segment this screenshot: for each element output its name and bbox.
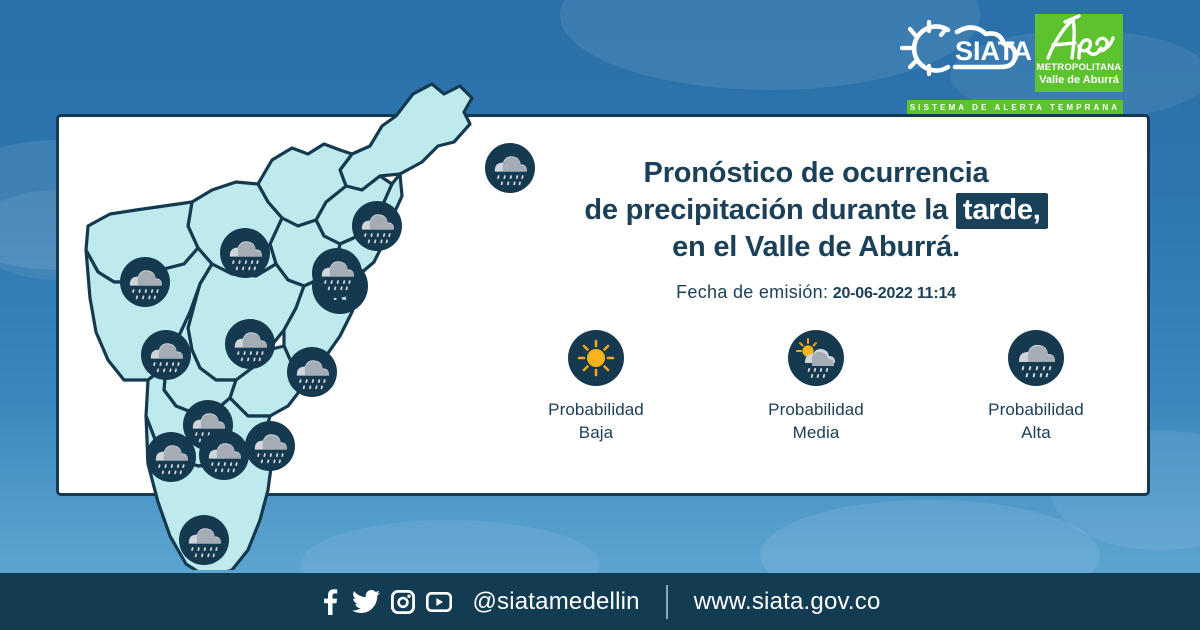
siata-wordmark: SIATA bbox=[955, 36, 1032, 66]
legend-item-low: Probabilidad Baja bbox=[506, 330, 686, 444]
title-line-2: de precipitación durante la tarde, bbox=[486, 192, 1146, 229]
page-title: Pronóstico de ocurrencia de precipitació… bbox=[486, 155, 1146, 266]
social-handle[interactable]: @siatamedellin bbox=[472, 588, 639, 616]
probability-legend: Probabilidad Baja bbox=[486, 330, 1146, 444]
rain-cloud-icon bbox=[1008, 330, 1064, 386]
title-line-1: Pronóstico de ocurrencia bbox=[486, 155, 1146, 192]
website-url[interactable]: www.siata.gov.co bbox=[694, 588, 881, 616]
sun-icon bbox=[568, 330, 624, 386]
legend-high-line2: Alta bbox=[946, 421, 1126, 444]
forecast-text-block: Pronóstico de ocurrencia de precipitació… bbox=[486, 155, 1146, 303]
tagline-banner: SISTEMA DE ALERTA TEMPRANA bbox=[907, 100, 1123, 115]
legend-label-high: Probabilidad Alta bbox=[946, 398, 1126, 444]
social-icons bbox=[319, 589, 452, 615]
instagram-icon[interactable] bbox=[391, 590, 415, 614]
youtube-icon[interactable] bbox=[426, 592, 452, 612]
area-script-icon bbox=[1035, 14, 1123, 64]
emission-date-label: Fecha de emisión: bbox=[676, 282, 828, 302]
emission-date-value: 20-06-2022 11:14 bbox=[833, 285, 956, 302]
header-logos: SIATA METROPOLITANA Valle de Aburrá bbox=[893, 12, 1193, 112]
title-highlight-tarde: tarde, bbox=[956, 193, 1048, 229]
emission-date-row: Fecha de emisión: 20-06-2022 11:14 bbox=[486, 282, 1146, 303]
facebook-icon[interactable] bbox=[319, 589, 341, 615]
legend-medium-line2: Media bbox=[726, 421, 906, 444]
legend-item-high: Probabilidad Alta bbox=[946, 330, 1126, 444]
title-line-2-text: de precipitación durante la bbox=[584, 194, 956, 226]
legend-label-low: Probabilidad Baja bbox=[506, 398, 686, 444]
tagline-text: SISTEMA DE ALERTA TEMPRANA bbox=[907, 100, 1123, 115]
sun-behind-rain-cloud-icon bbox=[788, 330, 844, 386]
infographic-canvas: SIATA METROPOLITANA Valle de Aburrá bbox=[0, 0, 1200, 630]
area-metropolitana-logo: METROPOLITANA Valle de Aburrá bbox=[1035, 14, 1123, 92]
title-line-3: en el Valle de Aburrá. bbox=[486, 229, 1146, 266]
area-logo-line1: METROPOLITANA bbox=[1035, 62, 1123, 73]
footer-bar: @siatamedellin www.siata.gov.co bbox=[0, 573, 1200, 630]
legend-low-line1: Probabilidad bbox=[506, 398, 686, 421]
legend-low-line2: Baja bbox=[506, 421, 686, 444]
footer-divider bbox=[666, 585, 668, 619]
legend-high-line1: Probabilidad bbox=[946, 398, 1126, 421]
twitter-icon[interactable] bbox=[352, 590, 380, 614]
legend-label-medium: Probabilidad Media bbox=[726, 398, 906, 444]
area-logo-line2: Valle de Aburrá bbox=[1035, 74, 1123, 86]
siata-logo: SIATA bbox=[893, 16, 1038, 86]
legend-medium-line1: Probabilidad bbox=[726, 398, 906, 421]
legend-item-medium: Probabilidad Media bbox=[726, 330, 906, 444]
